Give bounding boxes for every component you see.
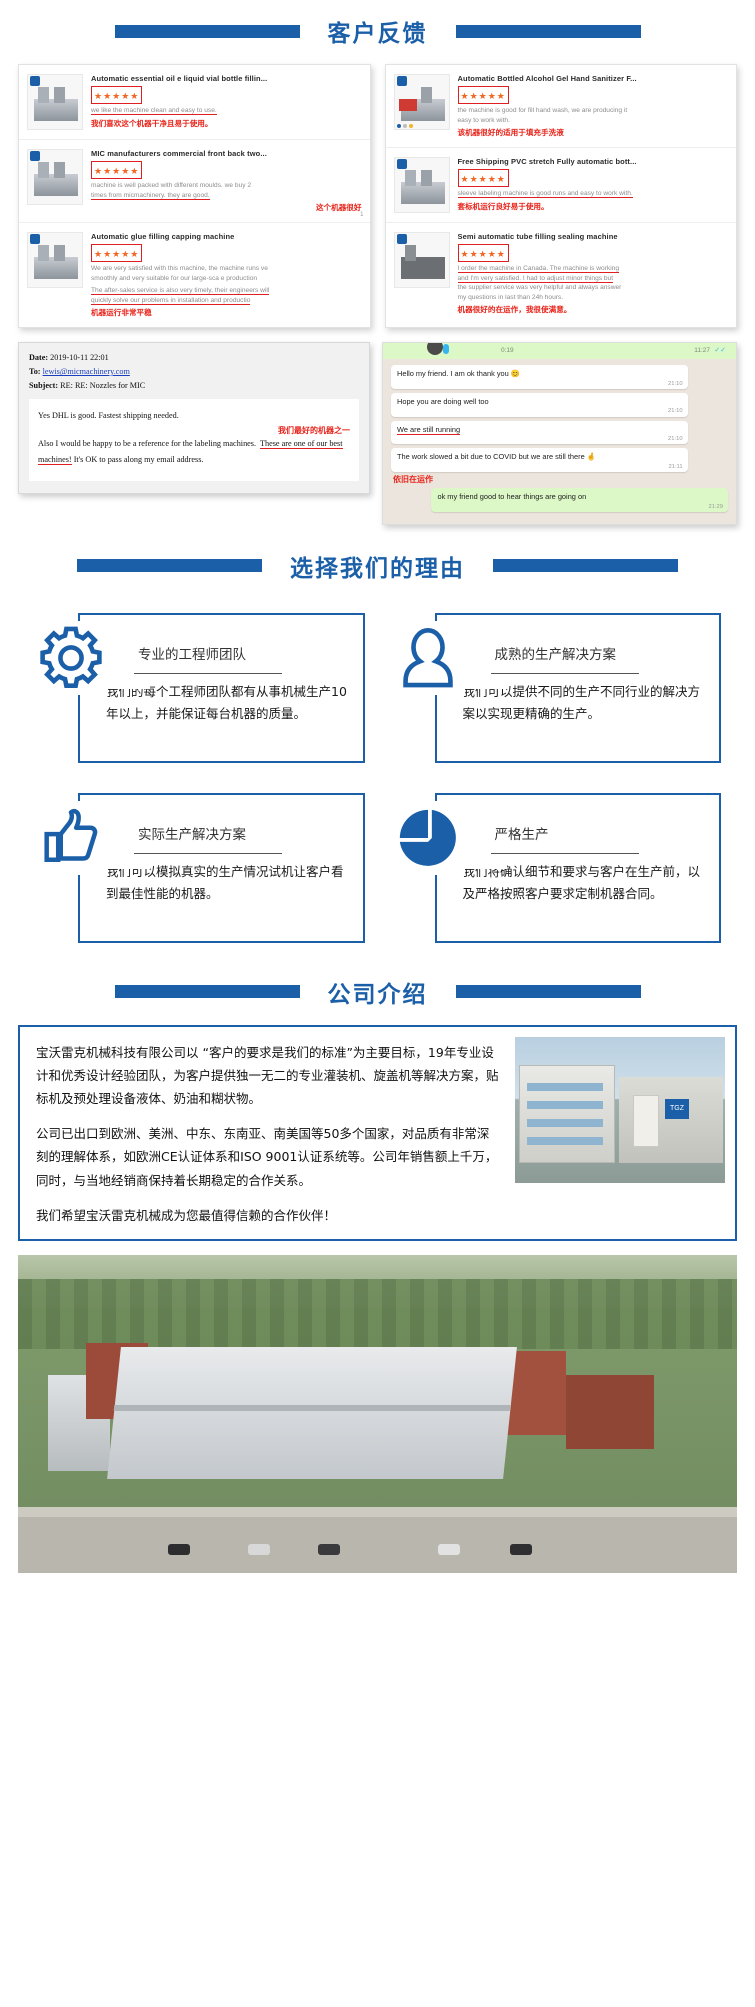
review-card[interactable]: Automatic essential oil e liquid vial bo…: [19, 65, 370, 140]
header-bar-left: [115, 985, 300, 998]
chat-voice-message-bubble[interactable]: 0:19 11:27 ✓✓: [383, 343, 736, 359]
product-thumbnail: [394, 157, 450, 213]
why-card-title: 成熟的生产解决方案: [491, 643, 621, 663]
section-title-company: 公司介绍: [328, 975, 428, 1009]
voice-duration: 0:19: [501, 347, 514, 354]
why-us-grid: 我们的每个工程师团队都有从事机械生产10年以上，并能保证每台机器的质量。 专业的…: [0, 593, 755, 961]
brand-logo-icon: [397, 76, 407, 86]
reviews-grid: Automatic essential oil e liquid vial bo…: [0, 58, 755, 328]
email-headers: Date: 2019-10-11 22:01 To: lewis@micmach…: [29, 351, 359, 393]
rating-stars: ★★★★★: [91, 244, 142, 262]
title-underline: [491, 853, 639, 855]
chat-message-time: 21:29: [708, 503, 723, 511]
review-product-title[interactable]: Semi automatic tube filling sealing mach…: [458, 232, 729, 241]
color-swatch-dots: [397, 124, 413, 128]
product-detail-page: 客户反馈 Automatic essential oil e liquid vi…: [0, 0, 755, 1589]
gear-icon: [34, 621, 108, 695]
product-thumbnail: [27, 149, 83, 205]
chat-message-out: ok my friend good to hear things are goi…: [431, 488, 728, 512]
review-card[interactable]: Automatic Bottled Alcohol Gel Hand Sanit…: [386, 65, 737, 148]
why-card-solutions: 我们可以提供不同的生产不同行业的解决方案以实现更精确的生产。 成熟的生产解决方案: [391, 607, 722, 763]
thumbs-up-icon: [34, 801, 108, 875]
review-text-en: I order the machine in Canada. The machi…: [458, 264, 729, 302]
brand-logo-icon: [30, 151, 40, 161]
header-bar-right: [456, 985, 641, 998]
chat-message-time: 21:10: [668, 407, 683, 415]
building-sign: TGZ: [665, 1099, 689, 1119]
email-screenshot: Date: 2019-10-11 22:01 To: lewis@micmach…: [18, 342, 370, 493]
chat-message-text: ok my friend good to hear things are goi…: [437, 492, 586, 501]
email-subject-value: RE: RE: Nozzles for MIC: [60, 381, 145, 390]
review-translation-cn: 机器运行非常平稳: [91, 307, 362, 318]
section-header-company: 公司介绍: [0, 961, 755, 1019]
review-product-title[interactable]: Automatic Bottled Alcohol Gel Hand Sanit…: [458, 74, 729, 83]
email-body-line-2: Also I would be happy to be a reference …: [38, 436, 350, 452]
company-intro-text: 宝沃雷克机械科技有限公司以 “客户的要求是我们的标准”为主要目标，19年专业设计…: [20, 1027, 515, 1239]
company-intro-box: 宝沃雷克机械科技有限公司以 “客户的要求是我们的标准”为主要目标，19年专业设计…: [18, 1025, 737, 1241]
title-underline: [134, 853, 282, 855]
company-paragraph-1: 宝沃雷克机械科技有限公司以 “客户的要求是我们的标准”为主要目标，19年专业设计…: [36, 1041, 501, 1110]
chat-message-in: Hope you are doing well too 21:10: [391, 393, 688, 417]
company-paragraph-3: 我们希望宝沃雷克机械成为您最值得信赖的合作伙伴！: [36, 1204, 501, 1227]
review-product-title[interactable]: Free Shipping PVC stretch Fully automati…: [458, 157, 729, 166]
brand-logo-icon: [30, 76, 40, 86]
product-thumbnail: [394, 232, 450, 288]
pie-chart-icon: [391, 801, 465, 875]
chat-message-text: Hope you are doing well too: [397, 397, 489, 406]
review-card[interactable]: MIC manufacturers commercial front back …: [19, 140, 370, 223]
chat-message-in: We are still running 21:10: [391, 421, 688, 445]
header-bar-left: [115, 25, 300, 38]
rating-stars: ★★★★★: [91, 161, 142, 179]
header-bar-right: [456, 25, 641, 38]
why-card-title: 专业的工程师团队: [134, 643, 250, 663]
section-title-feedback: 客户反馈: [328, 14, 428, 48]
whatsapp-chat-screenshot: 0:19 11:27 ✓✓ Hello my friend. I am ok t…: [382, 342, 737, 525]
review-text-en: the machine is good for fill hand wash, …: [458, 106, 729, 125]
review-body: Semi automatic tube filling sealing mach…: [458, 232, 729, 315]
brand-logo-icon: [397, 234, 407, 244]
rating-stars: ★★★★★: [458, 244, 509, 262]
review-product-title[interactable]: Automatic essential oil e liquid vial bo…: [91, 74, 362, 83]
brand-logo-icon: [30, 234, 40, 244]
review-body: Automatic essential oil e liquid vial bo…: [91, 74, 362, 130]
review-column-right: Automatic Bottled Alcohol Gel Hand Sanit…: [385, 64, 738, 328]
email-date-label: Date:: [29, 353, 48, 362]
review-card[interactable]: Semi automatic tube filling sealing mach…: [386, 223, 737, 324]
product-thumbnail: [27, 74, 83, 130]
email-to-link[interactable]: lewis@micmachinery.com: [43, 367, 130, 376]
email-subject-label: Subject:: [29, 381, 58, 390]
review-product-title[interactable]: MIC manufacturers commercial front back …: [91, 149, 362, 158]
read-receipt-icon: ✓✓: [714, 346, 726, 354]
chat-message-time: 21:10: [668, 380, 683, 388]
chat-message-in: Hello my friend. I am ok thank you 😊 21:…: [391, 365, 688, 389]
rating-stars: ★★★★★: [458, 169, 509, 187]
email-body-line-3: machines! It's OK to pass along my email…: [38, 452, 350, 468]
why-card-engineers: 我们的每个工程师团队都有从事机械生产10年以上，并能保证每台机器的质量。 专业的…: [34, 607, 365, 763]
email-body-line-1: Yes DHL is good. Fastest shipping needed…: [38, 408, 350, 424]
microphone-icon: [443, 344, 449, 354]
review-text-en: we like the machine clean and easy to us…: [91, 106, 362, 116]
email-to-label: To:: [29, 367, 41, 376]
title-underline: [134, 673, 282, 675]
review-text-en: sleeve labeling machine is good runs and…: [458, 189, 729, 199]
review-column-left: Automatic essential oil e liquid vial bo…: [18, 64, 371, 328]
review-body: MIC manufacturers commercial front back …: [91, 149, 362, 213]
product-thumbnail: [27, 232, 83, 288]
email-annotation-cn: 我们最好的机器之一: [38, 425, 350, 436]
review-translation-cn: 套标机运行良好易于使用。: [458, 201, 729, 212]
section-title-why-us: 选择我们的理由: [290, 549, 465, 583]
review-body: Automatic glue filling capping machine ★…: [91, 232, 362, 318]
why-card-strict-production: 我们将确认细节和要求与客户在生产前，以及严格按照客户要求定制机器合同。 严格生产: [391, 787, 722, 943]
chat-message-in: The work slowed a bit due to COVID but w…: [391, 448, 688, 472]
section-header-feedback: 客户反馈: [0, 0, 755, 58]
chat-message-time: 21:10: [668, 435, 683, 443]
chat-message-time: 21:11: [668, 463, 682, 471]
section-header-why-us: 选择我们的理由: [0, 535, 755, 593]
email-body: Yes DHL is good. Fastest shipping needed…: [29, 399, 359, 480]
review-card[interactable]: Free Shipping PVC stretch Fully automati…: [386, 148, 737, 223]
contact-avatar: [427, 342, 443, 355]
chat-message-text: Hello my friend. I am ok thank you 😊: [397, 369, 520, 378]
review-translation-cn: 该机器很好的适用于填充手洗液: [458, 127, 729, 138]
review-product-title[interactable]: Automatic glue filling capping machine: [91, 232, 362, 241]
title-underline: [491, 673, 639, 675]
product-thumbnail: [394, 74, 450, 130]
review-body: Automatic Bottled Alcohol Gel Hand Sanit…: [458, 74, 729, 138]
proof-row: Date: 2019-10-11 22:01 To: lewis@micmach…: [0, 328, 755, 535]
review-translation-cn: 机器很好的在运作，我很使满意。: [458, 304, 729, 315]
brand-logo-icon: [397, 159, 407, 169]
header-bar-left: [77, 559, 262, 572]
review-translation-cn: 我们喜欢这个机器干净且易于使用。: [91, 118, 362, 129]
why-card-title: 实际生产解决方案: [134, 823, 250, 843]
message-time: 11:27: [694, 347, 710, 354]
review-body: Free Shipping PVC stretch Fully automati…: [458, 157, 729, 213]
email-date-value: 2019-10-11 22:01: [50, 353, 109, 362]
factory-aerial-photo: [18, 1255, 737, 1573]
review-text-en: We are very satisfied with this machine,…: [91, 264, 362, 305]
chat-annotation-cn: 依旧在运作: [393, 474, 728, 485]
why-card-title: 严格生产: [491, 823, 553, 843]
person-icon: [391, 621, 465, 695]
review-page-number: 1: [360, 212, 363, 218]
company-paragraph-2: 公司已出口到欧洲、美洲、中东、东南亚、南美国等50多个国家，对品质有非常深刻的理…: [36, 1122, 501, 1191]
why-card-real-production: 我们可以模拟真实的生产情况试机让客户看到最佳性能的机器。 实际生产解决方案: [34, 787, 365, 943]
review-text-en: machine is well packed with different mo…: [91, 181, 362, 200]
header-bar-right: [493, 559, 678, 572]
chat-message-text: We are still running: [397, 425, 460, 435]
factory-building-photo: TGZ: [515, 1037, 725, 1183]
rating-stars: ★★★★★: [458, 86, 509, 104]
review-card[interactable]: Automatic glue filling capping machine ★…: [19, 223, 370, 327]
review-translation-cn: 这个机器很好: [91, 202, 362, 213]
chat-message-text: The work slowed a bit due to COVID but w…: [397, 452, 596, 461]
rating-stars: ★★★★★: [91, 86, 142, 104]
